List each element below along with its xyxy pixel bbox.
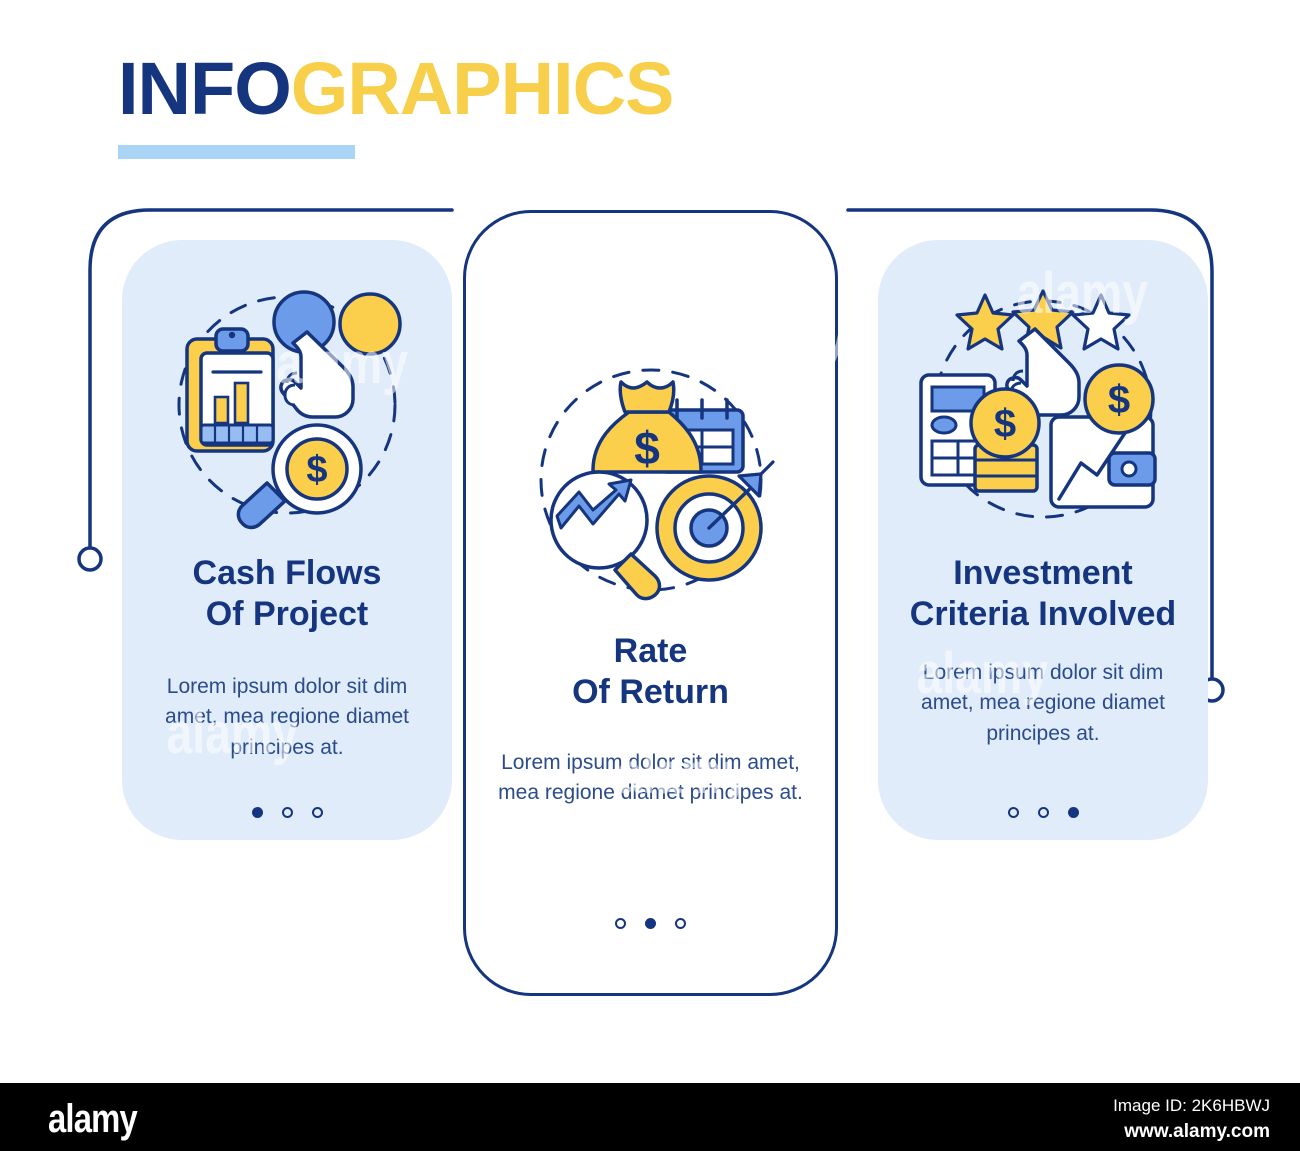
- infographic-canvas: INFOGRAPHICS: [0, 0, 1300, 1083]
- title-graphics: GRAPHICS: [291, 47, 674, 130]
- card-step-dots[interactable]: [878, 807, 1208, 818]
- card-step-dots[interactable]: [466, 918, 835, 929]
- svg-text:$: $: [994, 402, 1016, 446]
- card-title: Investment Criteria Involved: [892, 553, 1194, 636]
- card-title: Cash Flows Of Project: [136, 553, 438, 636]
- card-rate-of-return[interactable]: $ Rate Of Return Lorem ipsum dolor sit d…: [463, 210, 838, 996]
- title-info: INFO: [118, 47, 291, 130]
- card-title-line2: Of Return: [572, 673, 729, 711]
- step-dot-1[interactable]: [615, 918, 626, 929]
- card-title-line2: Criteria Involved: [910, 595, 1176, 633]
- alamy-logo: alamy: [48, 1099, 137, 1139]
- card-title-line1: Rate: [614, 632, 688, 670]
- step-dot-3[interactable]: [675, 918, 686, 929]
- title-underline: [118, 145, 355, 159]
- footer-image-id: Image ID: 2K6HBWJ: [1113, 1093, 1270, 1119]
- page-title: INFOGRAPHICS: [118, 52, 673, 126]
- card-body-text: Lorem ipsum dolor sit dim amet, mea regi…: [902, 658, 1184, 749]
- connector-endpoint-left: [79, 548, 101, 570]
- card-title-line1: Investment: [953, 554, 1133, 592]
- step-dot-1[interactable]: [1008, 807, 1019, 818]
- card-investment-criteria-involved[interactable]: $ $ Investment Criteria Involved Lorem i…: [878, 240, 1208, 840]
- card-cash-flows-of-project[interactable]: $ Cash Flows Of Project Lorem ipsum dolo…: [122, 240, 452, 840]
- step-dot-2[interactable]: [1038, 807, 1049, 818]
- step-dot-3[interactable]: [312, 807, 323, 818]
- card-title-line2: Of Project: [206, 595, 368, 633]
- footer-url: www.alamy.com: [1113, 1119, 1270, 1146]
- card-title-line1: Cash Flows: [193, 554, 382, 592]
- card-step-dots[interactable]: [122, 807, 452, 818]
- stars-cursor-calculator-coins-wallet-icon: $ $: [878, 262, 1208, 552]
- step-dot-3[interactable]: [1068, 807, 1079, 818]
- footer-bar: alamy Image ID: 2K6HBWJ www.alamy.com: [0, 1083, 1300, 1151]
- step-dot-2[interactable]: [645, 918, 656, 929]
- clipboard-chart-cursor-magnifier-dollar-icon: $: [122, 262, 452, 552]
- step-dot-1[interactable]: [252, 807, 263, 818]
- step-dot-2[interactable]: [282, 807, 293, 818]
- svg-text:$: $: [306, 449, 327, 491]
- card-body-text: Lorem ipsum dolor sit dim amet, mea regi…: [146, 672, 428, 763]
- svg-text:$: $: [1108, 378, 1130, 422]
- card-title: Rate Of Return: [480, 631, 821, 714]
- money-bag-calendar-magnifier-target-icon: $: [466, 333, 835, 623]
- card-body-text: Lorem ipsum dolor sit dim amet, mea regi…: [490, 748, 811, 809]
- svg-text:$: $: [634, 422, 660, 474]
- footer-meta: Image ID: 2K6HBWJ www.alamy.com: [1113, 1093, 1270, 1145]
